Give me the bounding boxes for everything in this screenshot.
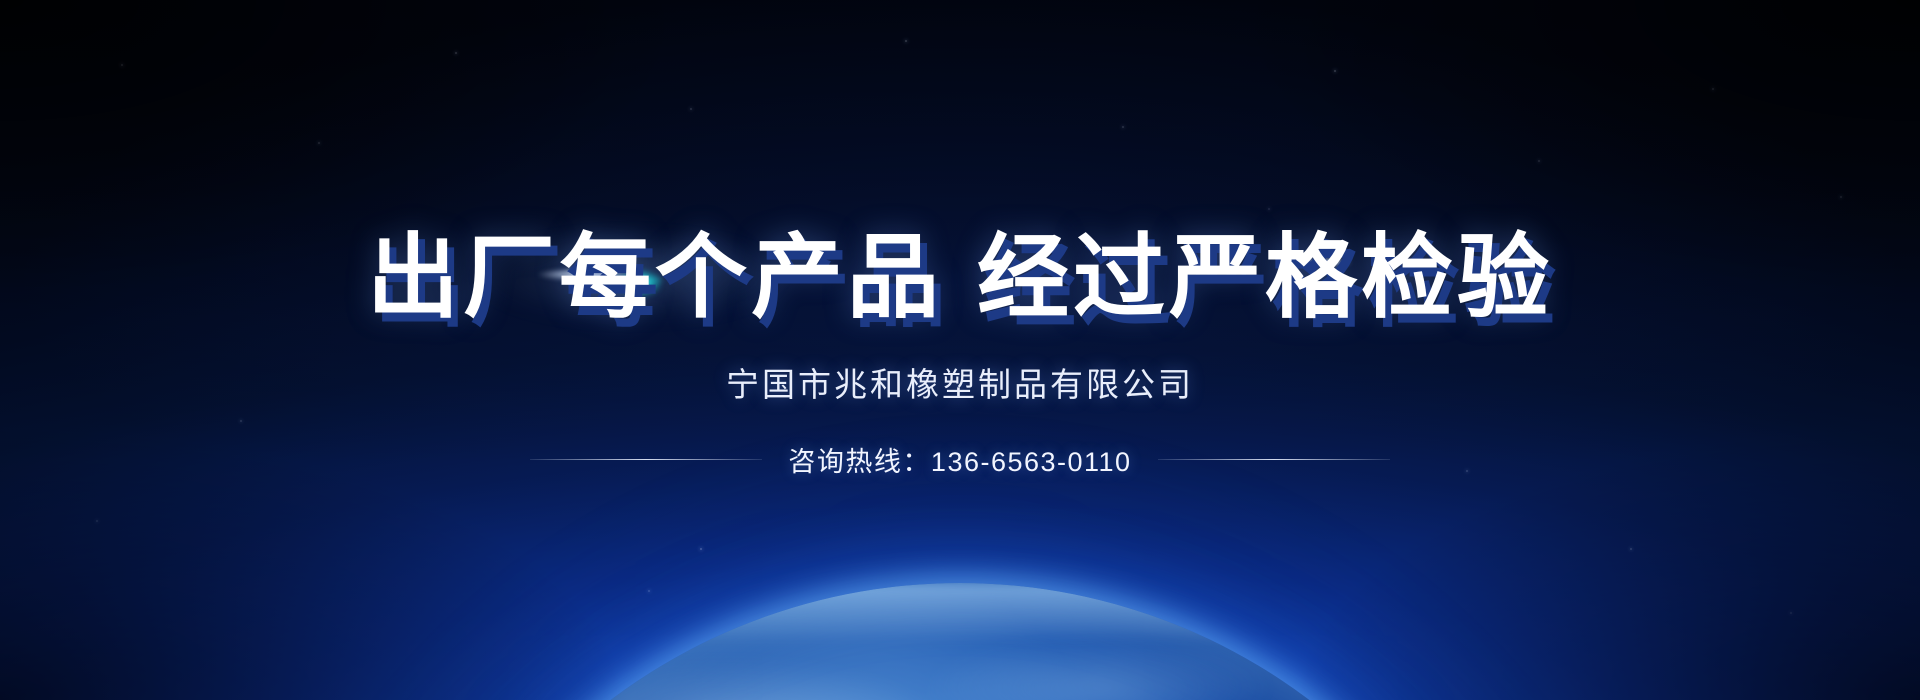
company-name: 宁国市兆和橡塑制品有限公司 [726, 358, 1194, 406]
headline-part-2: 经过严格检验 [977, 227, 1553, 329]
hotline-row: 咨询热线：136-6563-0110 [530, 440, 1389, 479]
divider-left [530, 459, 762, 460]
hotline-text: 咨询热线：136-6563-0110 [788, 440, 1131, 479]
headline-part-1: 出厂每个产品 [367, 227, 943, 329]
promo-banner: 出厂每个产品经过严格检验 宁国市兆和橡塑制品有限公司 咨询热线：136-6563… [0, 0, 1920, 700]
headline: 出厂每个产品经过严格检验 [367, 232, 1553, 324]
banner-content: 出厂每个产品经过严格检验 宁国市兆和橡塑制品有限公司 咨询热线：136-6563… [0, 0, 1920, 700]
divider-right [1158, 459, 1390, 460]
